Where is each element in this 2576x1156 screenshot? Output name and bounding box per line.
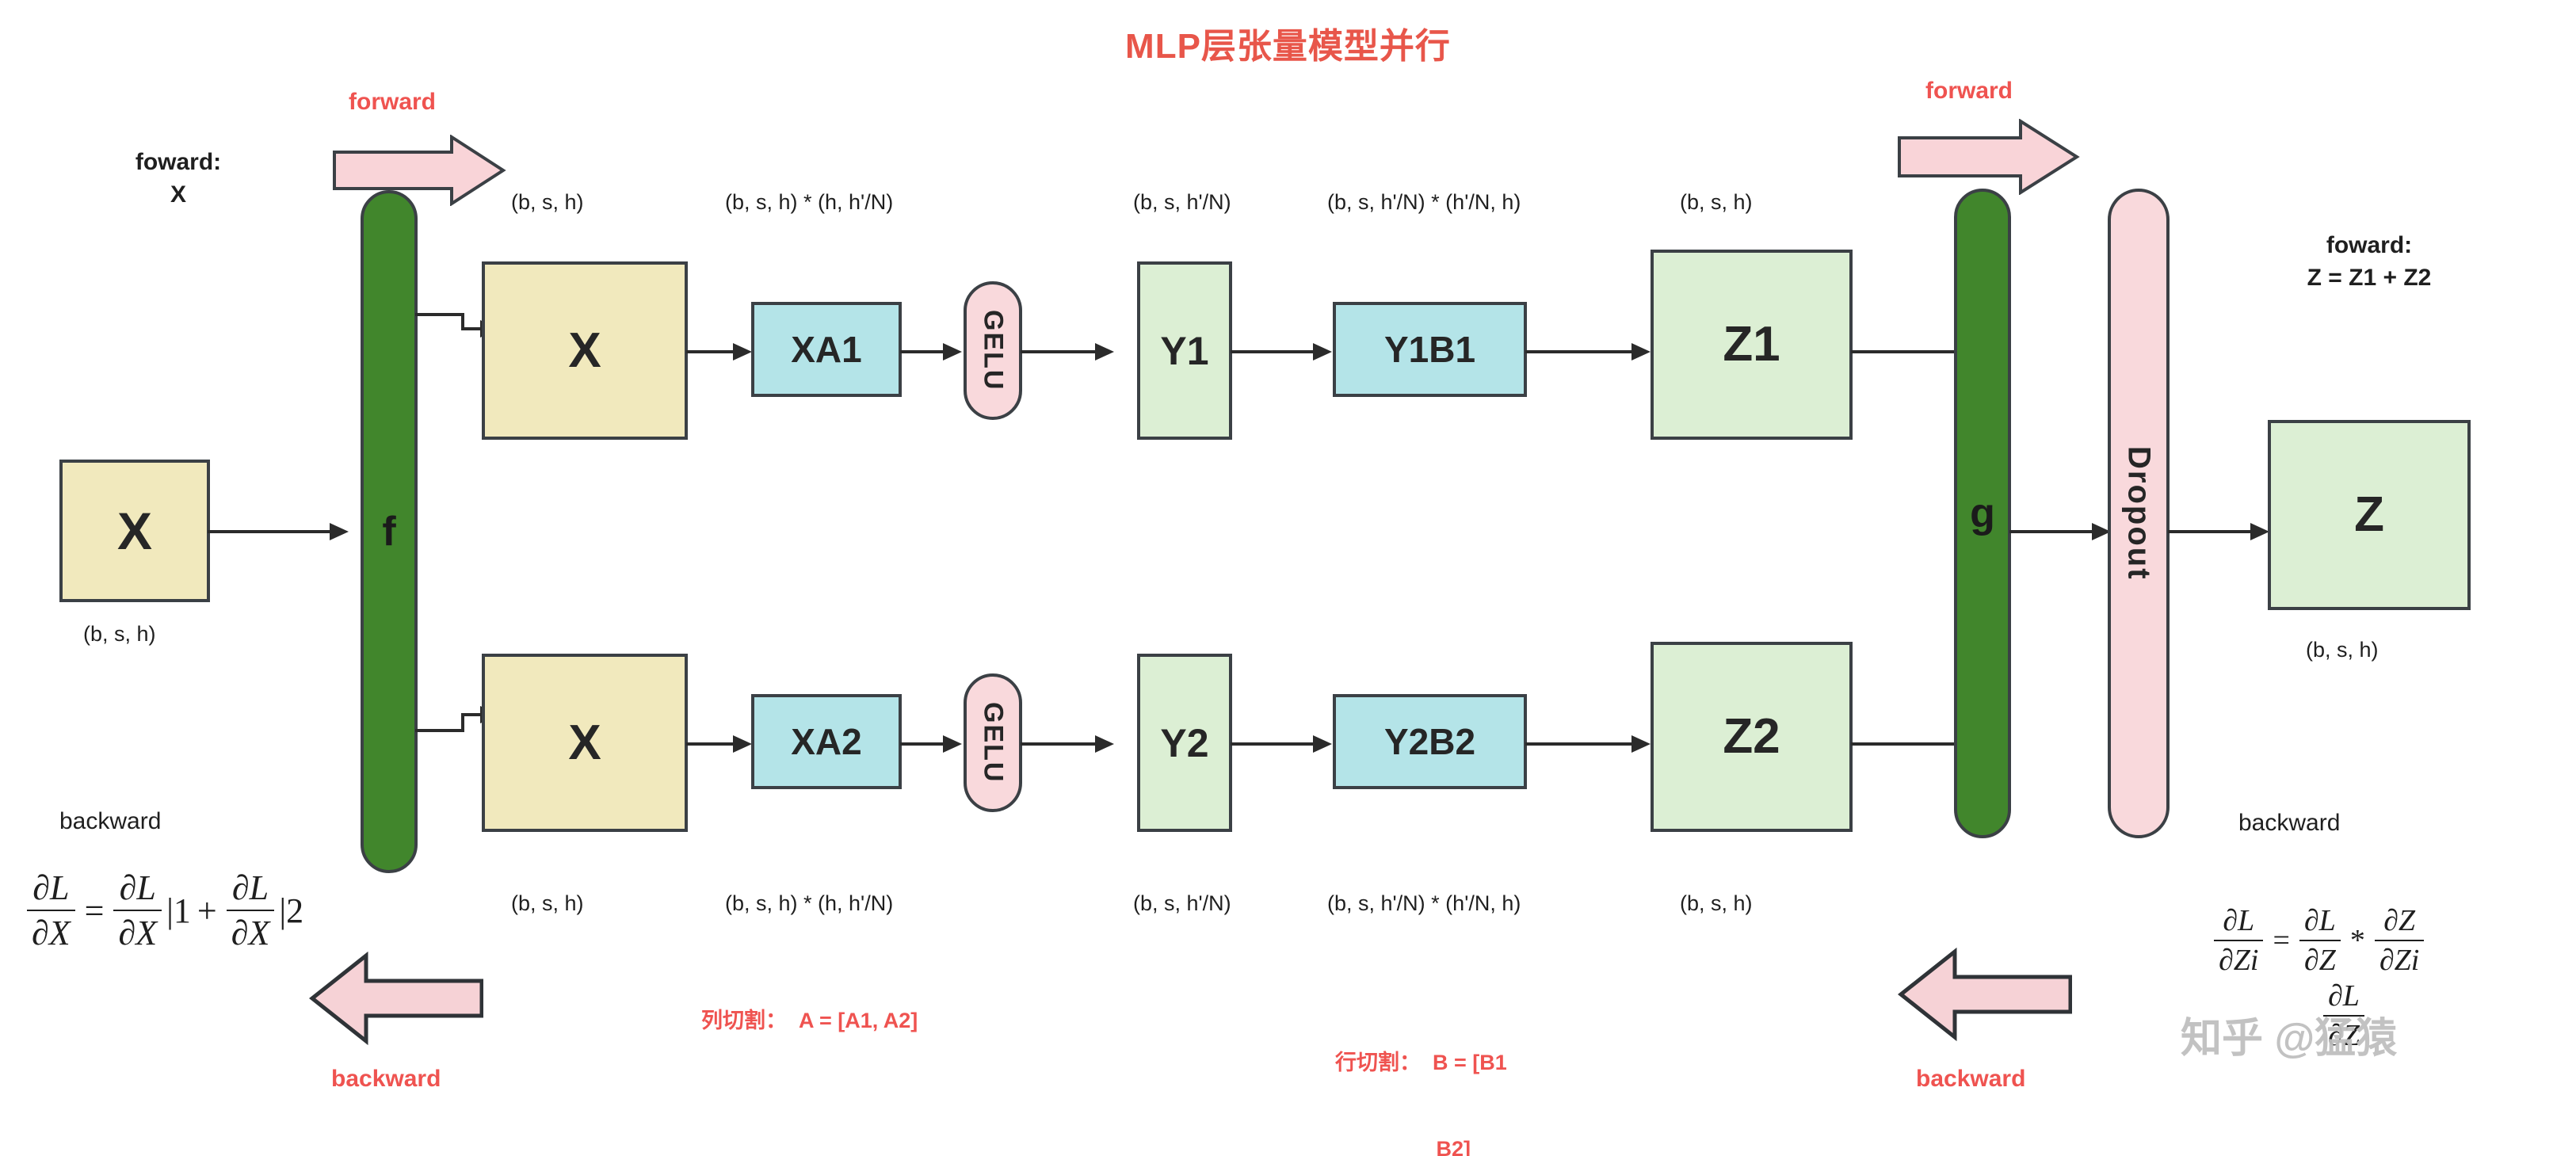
formula-left-t1-den: ∂X	[113, 910, 162, 953]
column-split-note: 列切割： A = [A1, A2]	[701, 1006, 918, 1035]
branch2-node-xa2: XA2	[751, 694, 902, 789]
foward-z-caption: foward: Z = Z1 + Z2	[2250, 230, 2488, 294]
backward-label-right: backward	[1916, 1066, 2025, 1093]
backward-formula-left: ∂L ∂X = ∂L ∂X |1 + ∂L ∂X |2	[24, 868, 303, 953]
branch2-node-y2: Y2	[1137, 654, 1232, 832]
output-dim-label: (b, s, h)	[2306, 638, 2379, 662]
branch2-node-x: X	[482, 654, 688, 832]
branch2-node-y2b2: Y2B2	[1333, 694, 1527, 789]
branch2-node-gelu: GELU	[964, 673, 1022, 812]
branch1-node-xa1: XA1	[751, 302, 902, 397]
backward-formula-right: ∂L ∂Zi = ∂L ∂Z * ∂Z ∂Zi	[2211, 903, 2427, 978]
f-identity-bar: f	[361, 190, 418, 873]
branch2-node-y2-label: Y2	[1160, 723, 1208, 763]
foward-x-caption: foward: X	[87, 147, 269, 211]
output-box-z-label: Z	[2354, 490, 2384, 540]
arrow-b1-gelu-to-y1-icon	[1021, 335, 1116, 368]
branch2-node-y2b2-label: Y2B2	[1384, 723, 1475, 760]
dim-top-3: (b, s, h'/N) * (h'/N, h)	[1327, 190, 1521, 215]
arrow-b2-gelu-to-y2-icon	[1021, 727, 1116, 761]
formula-right-t2-den: ∂Zi	[2375, 940, 2424, 978]
watermark: 知乎 @猛猿	[2181, 1005, 2397, 1064]
formula-left-t2-bar: |2	[279, 891, 303, 931]
branch2-node-x-label: X	[568, 719, 601, 768]
dropout-bar-label: Dropout	[2121, 446, 2157, 581]
branch1-node-z1: Z1	[1651, 250, 1853, 440]
formula-right-lhs-den: ∂Zi	[2214, 940, 2263, 978]
branch1-node-xa1-label: XA1	[791, 331, 861, 368]
formula-right-t1-num: ∂L	[2299, 903, 2341, 940]
foward-z-line2: Z = Z1 + Z2	[2250, 262, 2488, 295]
arrow-dropout-to-z-icon	[2168, 515, 2271, 548]
dim-bottom-4: (b, s, h)	[1680, 891, 1753, 916]
formula-left-eq: =	[85, 891, 105, 931]
formula-left-t2: ∂L ∂X	[227, 868, 275, 953]
formula-left-lhs-num: ∂L	[28, 868, 74, 910]
backward-arrow-left-icon	[309, 951, 483, 1046]
arrow-b1-y1-to-y1b1-icon	[1231, 335, 1334, 368]
dim-bottom-1: (b, s, h) * (h, h'/N)	[725, 891, 893, 916]
formula-right-t2-num: ∂Z	[2379, 903, 2420, 940]
arrow-b2-x-to-xa2-icon	[686, 727, 754, 761]
dropout-bar: Dropout	[2108, 189, 2170, 838]
formula-right-times: *	[2350, 923, 2365, 958]
g-allreduce-bar: g	[1954, 189, 2011, 838]
formula-left-t1-bar: |1	[166, 891, 191, 931]
dim-top-0: (b, s, h)	[511, 190, 584, 215]
input-box-x: X	[59, 460, 210, 602]
branch1-node-z1-label: Z1	[1723, 320, 1780, 369]
f-bar-label: f	[382, 508, 395, 555]
backward-label-left: backward	[331, 1066, 441, 1093]
formula-left-lhs-den: ∂X	[27, 910, 75, 953]
formula-left-t2-num: ∂L	[227, 868, 273, 910]
branch2-node-gelu-label: GELU	[978, 702, 1009, 783]
arrow-b1-x-to-xa1-icon	[686, 335, 754, 368]
row-split-note-line2: B2]	[1335, 1135, 1507, 1156]
dim-bottom-3: (b, s, h'/N) * (h'/N, h)	[1327, 891, 1521, 916]
formula-right-lhs: ∂L ∂Zi	[2214, 903, 2263, 978]
row-split-note-line1: 行切割： B = [B1	[1335, 1048, 1507, 1077]
forward-arrow-right-icon	[1898, 119, 2080, 195]
branch1-node-gelu-label: GELU	[978, 310, 1009, 391]
formula-right-t2: ∂Z ∂Zi	[2375, 903, 2424, 978]
output-box-z: Z	[2268, 420, 2471, 610]
arrow-b1-y1b1-to-z1-icon	[1525, 335, 1652, 368]
foward-z-line1: foward:	[2250, 230, 2488, 262]
arrow-g-to-dropout-icon	[2009, 515, 2112, 548]
branch2-node-z2: Z2	[1651, 642, 1853, 832]
formula-right-t1-den: ∂Z	[2299, 940, 2341, 978]
page-title: MLP层张量模型并行	[0, 17, 2576, 68]
branch1-node-x-label: X	[568, 326, 601, 376]
input-dim-label: (b, s, h)	[83, 622, 156, 647]
formula-left-lhs: ∂L ∂X	[27, 868, 75, 953]
backward-text-right: backward	[2238, 810, 2340, 837]
diagram-canvas: MLP层张量模型并行 foward: X forward X (b, s, h)…	[0, 0, 2576, 1156]
formula-right-lhs-num: ∂L	[2218, 903, 2259, 940]
arrow-b2-y2b2-to-z2-icon	[1525, 727, 1652, 761]
foward-x-line1: foward:	[87, 147, 269, 179]
dim-bottom-2: (b, s, h'/N)	[1133, 891, 1231, 916]
formula-right-t1: ∂L ∂Z	[2299, 903, 2341, 978]
branch1-node-gelu: GELU	[964, 281, 1022, 420]
formula-right-eq: =	[2273, 923, 2289, 958]
arrow-b1-xa1-to-gelu-icon	[900, 335, 964, 368]
dim-top-2: (b, s, h'/N)	[1133, 190, 1231, 215]
formula-left-t2-den: ∂X	[227, 910, 275, 953]
formula-left-t1: ∂L ∂X	[113, 868, 162, 953]
foward-x-line2: X	[87, 179, 269, 212]
branch1-node-x: X	[482, 261, 688, 440]
dim-bottom-0: (b, s, h)	[511, 891, 584, 916]
input-box-x-label: X	[117, 505, 152, 557]
forward-label-right: forward	[1925, 78, 2013, 105]
arrow-x-to-f-icon	[208, 515, 350, 548]
branch2-node-xa2-label: XA2	[791, 723, 861, 760]
formula-left-t1-num: ∂L	[115, 868, 161, 910]
forward-label-left: forward	[349, 89, 436, 116]
backward-arrow-right-icon	[1898, 947, 2072, 1042]
branch2-node-z2-label: Z2	[1723, 712, 1780, 761]
g-bar-label: g	[1970, 490, 1995, 537]
branch1-node-y1: Y1	[1137, 261, 1232, 440]
backward-text-left: backward	[59, 808, 161, 835]
arrow-b2-xa2-to-gelu-icon	[900, 727, 964, 761]
branch1-node-y1b1-label: Y1B1	[1384, 331, 1475, 368]
forward-arrow-left-icon	[333, 135, 507, 206]
arrow-b2-y2-to-y2b2-icon	[1231, 727, 1334, 761]
formula-left-plus: +	[197, 891, 217, 931]
branch1-node-y1-label: Y1	[1160, 331, 1208, 371]
dim-top-1: (b, s, h) * (h, h'/N)	[725, 190, 893, 215]
branch1-node-y1b1: Y1B1	[1333, 302, 1527, 397]
row-split-note: 行切割： B = [B1 B2]	[1335, 990, 1507, 1156]
dim-top-4: (b, s, h)	[1680, 190, 1753, 215]
